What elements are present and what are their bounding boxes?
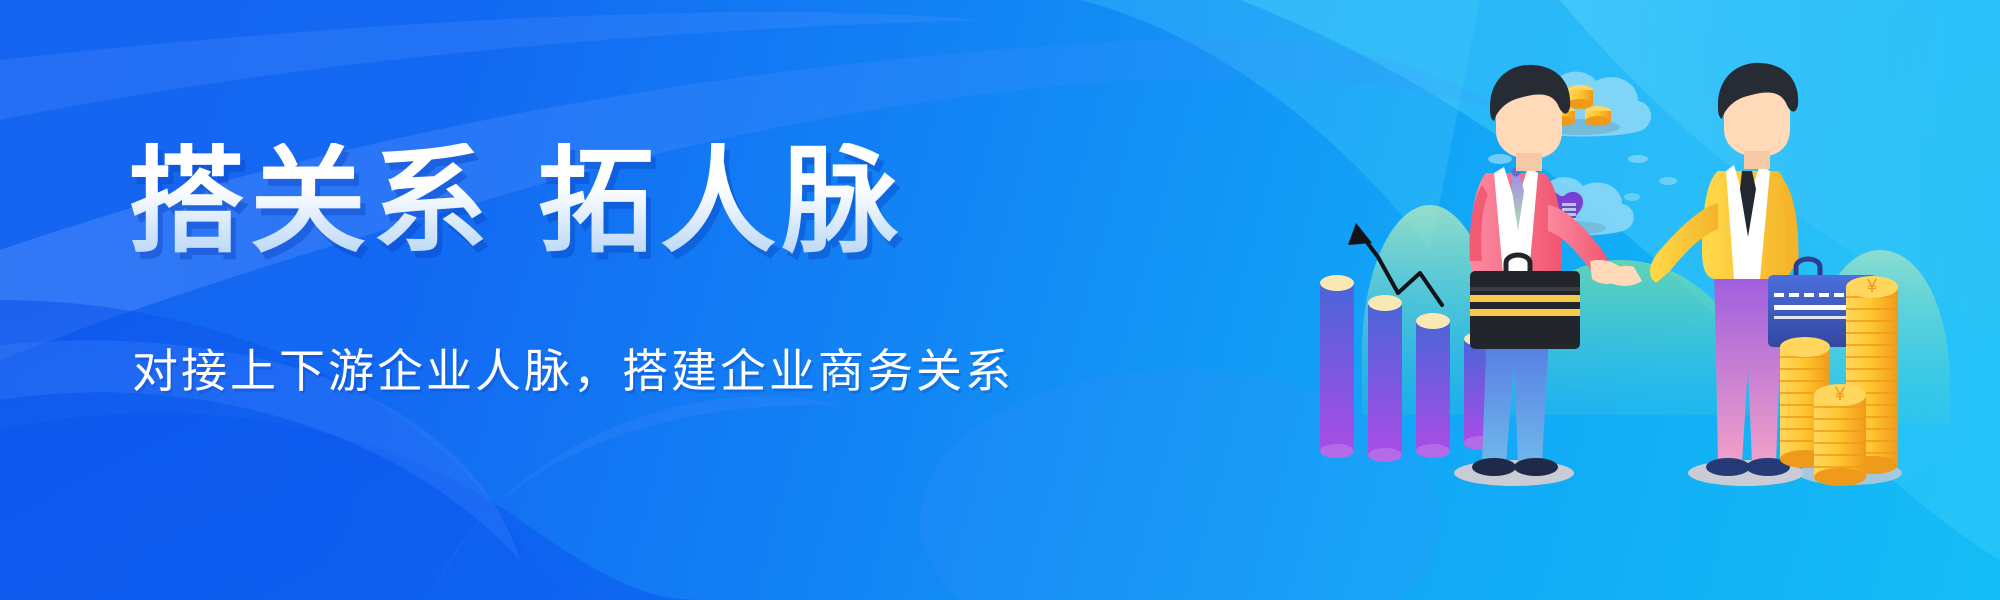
bar-1 [1320,275,1354,458]
person-left-shoe-2 [1514,458,1558,476]
bar-3 [1416,313,1450,458]
person-left-neck [1516,153,1542,171]
puff-1 [1488,154,1512,164]
page-subtitle: 对接上下游企业人脉，搭建企业商务关系 [132,344,1014,398]
person-right-shoe-1 [1706,458,1750,476]
headline-part-1: 搭关系 [128,136,494,266]
illustration-svg: ¥ [1290,55,2000,525]
coin-stack-front: ¥ [1814,384,1866,486]
headline-part-2: 拓人脉 [538,136,904,266]
text-block: 搭关系拓人脉 对接上下游企业人脉，搭建企业商务关系 [0,0,1100,600]
handshake-illustration: ¥ [1290,55,2000,525]
puff-5 [1624,193,1640,201]
promo-banner: 搭关系拓人脉 对接上下游企业人脉，搭建企业商务关系 [0,0,2000,600]
person-right-neck [1744,151,1770,169]
person-left-shoe-1 [1472,458,1516,476]
page-title: 搭关系拓人脉 [128,143,904,259]
puff-4 [1659,177,1677,185]
puff-3 [1628,155,1648,163]
bar-2 [1368,295,1402,462]
arrow-head-icon [1348,223,1372,245]
coin-yen-symbol-2: ¥ [1834,384,1846,404]
coin-yen-symbol-1: ¥ [1866,276,1878,296]
